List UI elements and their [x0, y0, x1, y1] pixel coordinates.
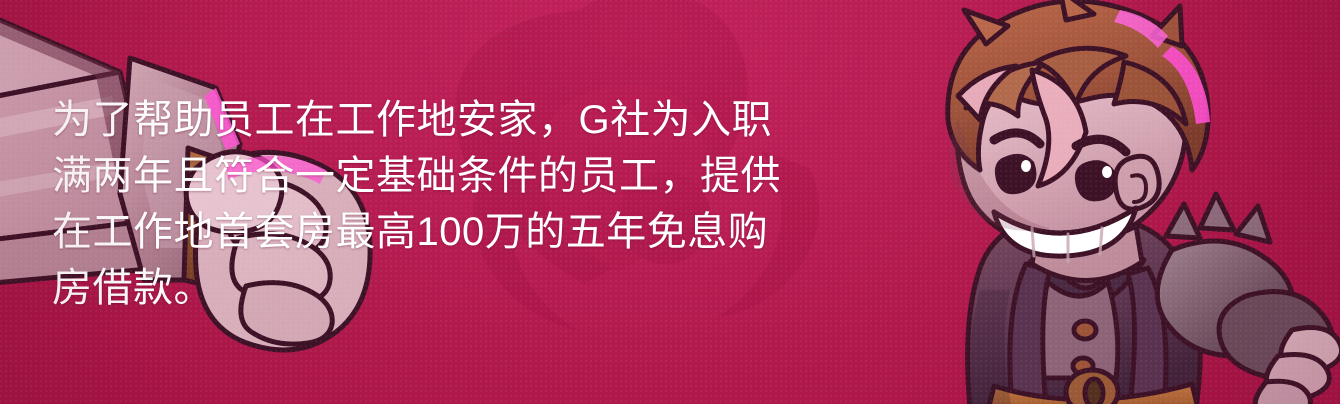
copy-line-4: 房借款。: [52, 260, 812, 316]
copy-line-2: 满两年且符合一定基础条件的员工，提供: [52, 148, 812, 204]
copy-line-1: 为了帮助员工在工作地安家，G社为入职: [52, 92, 812, 148]
promo-banner: 为了帮助员工在工作地安家，G社为入职 满两年且符合一定基础条件的员工，提供 在工…: [0, 0, 1340, 404]
character-illustration: [780, 0, 1340, 404]
copy-line-3: 在工作地首套房最高100万的五年免息购: [52, 204, 812, 260]
promo-copy: 为了帮助员工在工作地安家，G社为入职 满两年且符合一定基础条件的员工，提供 在工…: [52, 92, 812, 316]
